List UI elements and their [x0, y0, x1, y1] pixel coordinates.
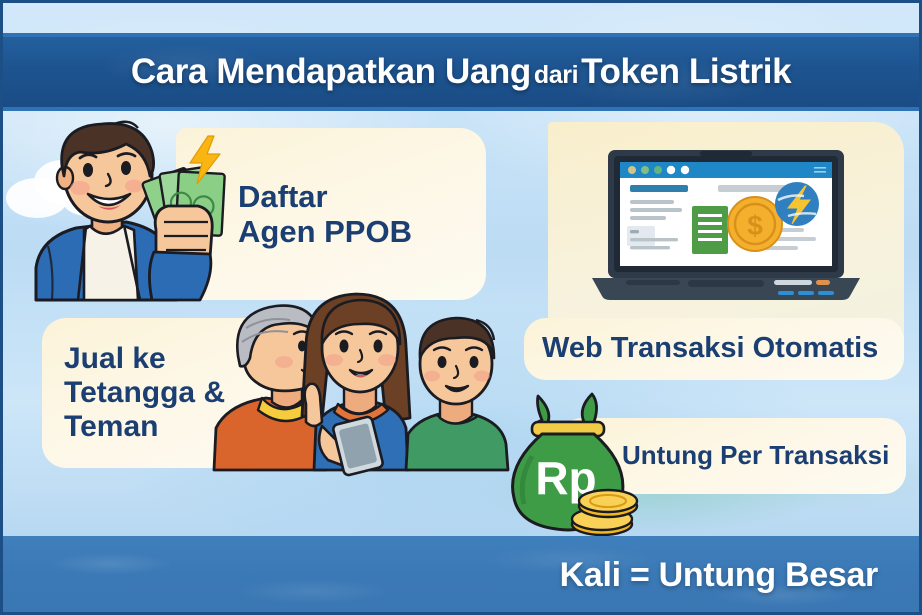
title-part-dari: dari	[531, 61, 581, 89]
boy-figure	[406, 318, 508, 470]
bottom-banner: Kali = Untung Besar	[0, 536, 922, 615]
card-jual-label: Jual ke Tetangga & Teman	[64, 342, 225, 445]
card-untung-label: Untung Per Transaksi	[622, 441, 889, 471]
dollar-coin-icon: $	[728, 197, 782, 251]
bottom-banner-text: Kali = Untung Besar	[560, 556, 878, 595]
money-bag-icon: Rp	[508, 392, 638, 540]
title-band: Cara Mendapatkan UangdariToken Listrik	[0, 33, 922, 111]
card-jual-line3: Teman	[64, 410, 225, 444]
infographic-poster: Cara Mendapatkan UangdariToken Listrik D…	[0, 0, 922, 615]
green-document-icon	[692, 206, 728, 254]
page-title: Cara Mendapatkan UangdariToken Listrik	[131, 52, 791, 92]
power-lightning-badge-icon	[775, 182, 819, 226]
card-jual-line1: Jual ke	[64, 342, 225, 376]
title-part-1: Cara Mendapatkan Uang	[131, 52, 531, 91]
card-jual-line2: Tetangga &	[64, 376, 225, 410]
laptop-icon: $	[592, 150, 860, 300]
woman-with-phone	[302, 294, 410, 476]
card-web-label: Web Transaksi Otomatis	[542, 332, 878, 365]
gold-coins-icon	[572, 490, 637, 535]
card-daftar-label: Daftar Agen PPOB	[238, 179, 412, 250]
card-daftar-line2: Agen PPOB	[238, 214, 412, 249]
family-group-icon	[210, 300, 510, 470]
card-web-transaksi-otomatis[interactable]: Web Transaksi Otomatis	[524, 318, 904, 380]
lightning-bolt-icon	[188, 136, 222, 184]
svg-text:$: $	[747, 210, 763, 241]
card-daftar-line1: Daftar	[238, 179, 412, 214]
title-part-2: Token Listrik	[581, 52, 791, 91]
